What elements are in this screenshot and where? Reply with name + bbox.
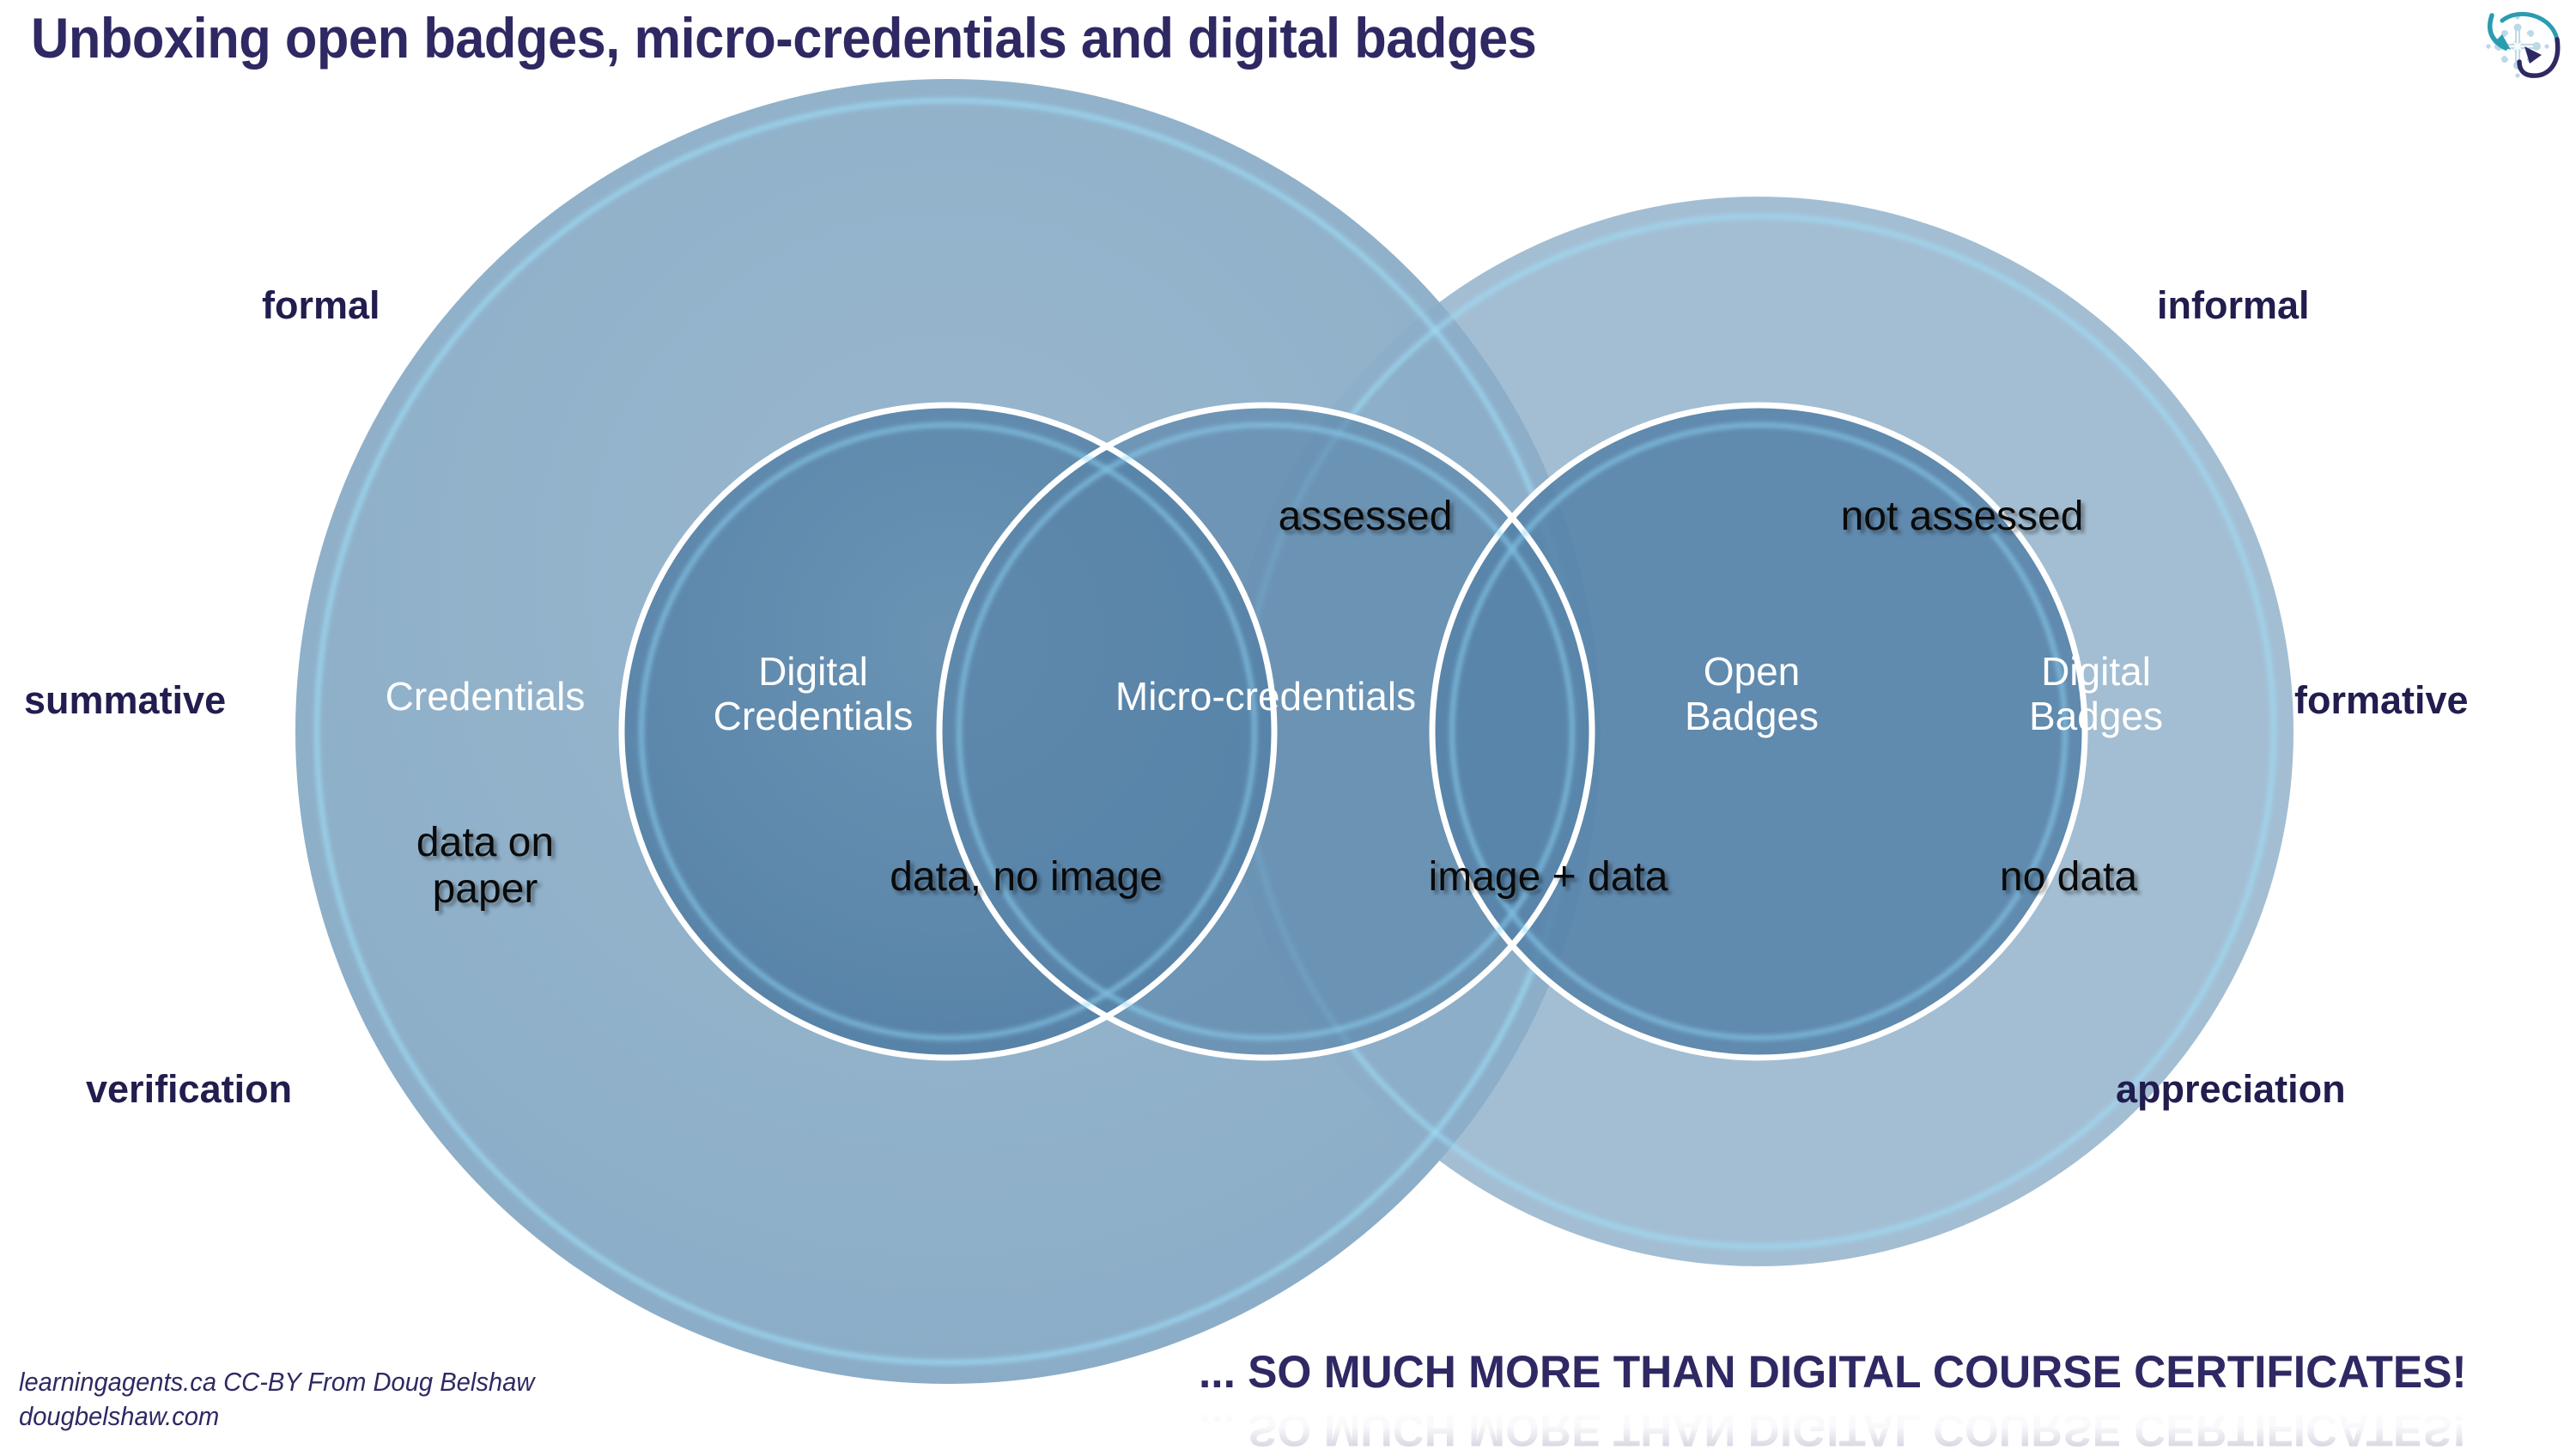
region-title-digital-badges: Digital Badges <box>2029 650 2163 738</box>
axis-label-appreciation: appreciation <box>2116 1067 2346 1112</box>
region-title-open-badges: Open Badges <box>1685 650 1819 738</box>
region-descriptor-not-assessed: not assessed <box>1841 494 2084 540</box>
region-title-digital-credentials: Digital Credentials <box>714 650 914 738</box>
region-descriptor-image-plus-data: image + data <box>1429 854 1668 901</box>
axis-label-verification: verification <box>86 1067 292 1112</box>
axis-label-formal: formal <box>262 283 380 328</box>
region-descriptor-data-on-paper: data on paper <box>416 820 554 913</box>
region-title-credentials: Credentials <box>386 675 586 719</box>
venn-diagram <box>0 0 2576 1448</box>
attribution-text: learningagents.ca CC-BY From Doug Belsha… <box>19 1365 534 1433</box>
axis-label-formative: formative <box>2294 678 2469 723</box>
region-descriptor-assessed: assessed <box>1279 494 1453 540</box>
circle-micro-credentials <box>939 405 1592 1058</box>
axis-label-summative: summative <box>24 678 226 723</box>
region-descriptor-data-no-image: data, no image <box>890 854 1163 901</box>
region-descriptor-no-data: no data <box>2000 854 2137 901</box>
learning-agents-swirl-logo-icon <box>2466 2 2569 88</box>
page-title: Unboxing open badges, micro-credentials … <box>31 5 1536 70</box>
axis-label-informal: informal <box>2157 283 2310 328</box>
tagline-block: ... SO MUCH MORE THAN DIGITAL COURSE CER… <box>1199 1346 2506 1449</box>
tagline-text: ... SO MUCH MORE THAN DIGITAL COURSE CER… <box>1199 1346 2467 1398</box>
region-title-micro-credentials: Micro-credentials <box>1115 675 1416 719</box>
